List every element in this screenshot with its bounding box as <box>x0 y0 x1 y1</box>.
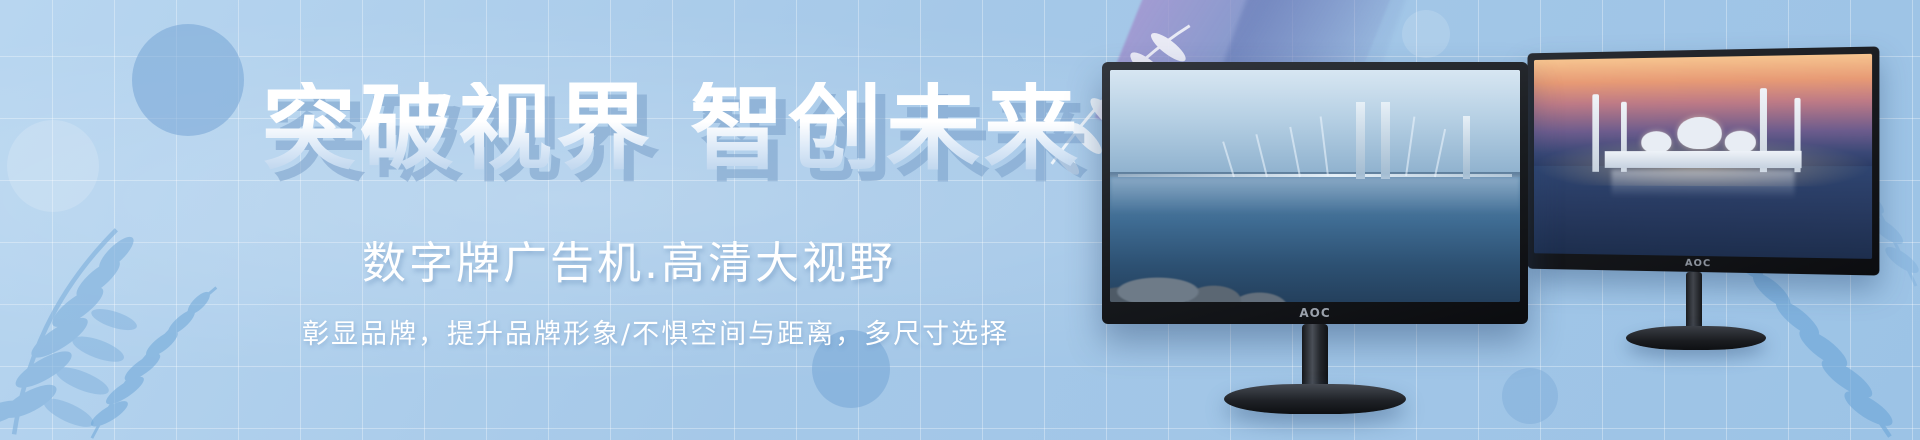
product-monitor-back: AOC <box>1520 50 1890 350</box>
monitor-bezel: AOC <box>1102 62 1528 324</box>
copy-block: 突破视界智创未来 数字牌广告机.高清大视野 彰显品牌，提升品牌形象/不惧空间与距… <box>0 0 1080 440</box>
bridge-pylon <box>1356 102 1365 179</box>
brand-logo: AOC <box>1685 258 1711 269</box>
headline-part-1: 突破视界 <box>262 74 654 183</box>
water-reflection <box>1110 177 1520 214</box>
monitor-screen <box>1110 70 1520 302</box>
screen-sky <box>1110 70 1520 177</box>
subtitle: 数字牌广告机.高清大视野 <box>362 240 896 288</box>
bridge-pylon <box>1463 116 1470 179</box>
tagline: 彰显品牌，提升品牌形象/不惧空间与距离，多尺寸选择 <box>302 320 1009 350</box>
monitor-stand-neck <box>1686 272 1702 332</box>
headline-part-2: 智创未来 <box>690 74 1082 183</box>
monitor-screen <box>1534 54 1872 259</box>
circle-decoration-tiny <box>1402 10 1450 58</box>
promo-banner: 突破视界智创未来 数字牌广告机.高清大视野 彰显品牌，提升品牌形象/不惧空间与距… <box>0 0 1920 440</box>
minaret-shape <box>1592 94 1599 172</box>
mosque-base <box>1605 150 1801 168</box>
mosque-reflection <box>1612 170 1795 199</box>
monitor-stand-base <box>1224 384 1406 414</box>
bridge-pylon <box>1381 102 1390 179</box>
dome-shape <box>1725 130 1756 152</box>
monitor-bezel: AOC <box>1527 46 1879 275</box>
brand-logo: AOC <box>1299 306 1330 320</box>
monitor-stand-base <box>1626 326 1766 350</box>
dome-shape <box>1678 117 1722 149</box>
dome-shape <box>1641 131 1671 153</box>
product-monitor-front: AOC <box>1102 62 1542 412</box>
foreground-rocks <box>1110 223 1356 302</box>
page-title: 突破视界智创未来 <box>262 82 1082 176</box>
